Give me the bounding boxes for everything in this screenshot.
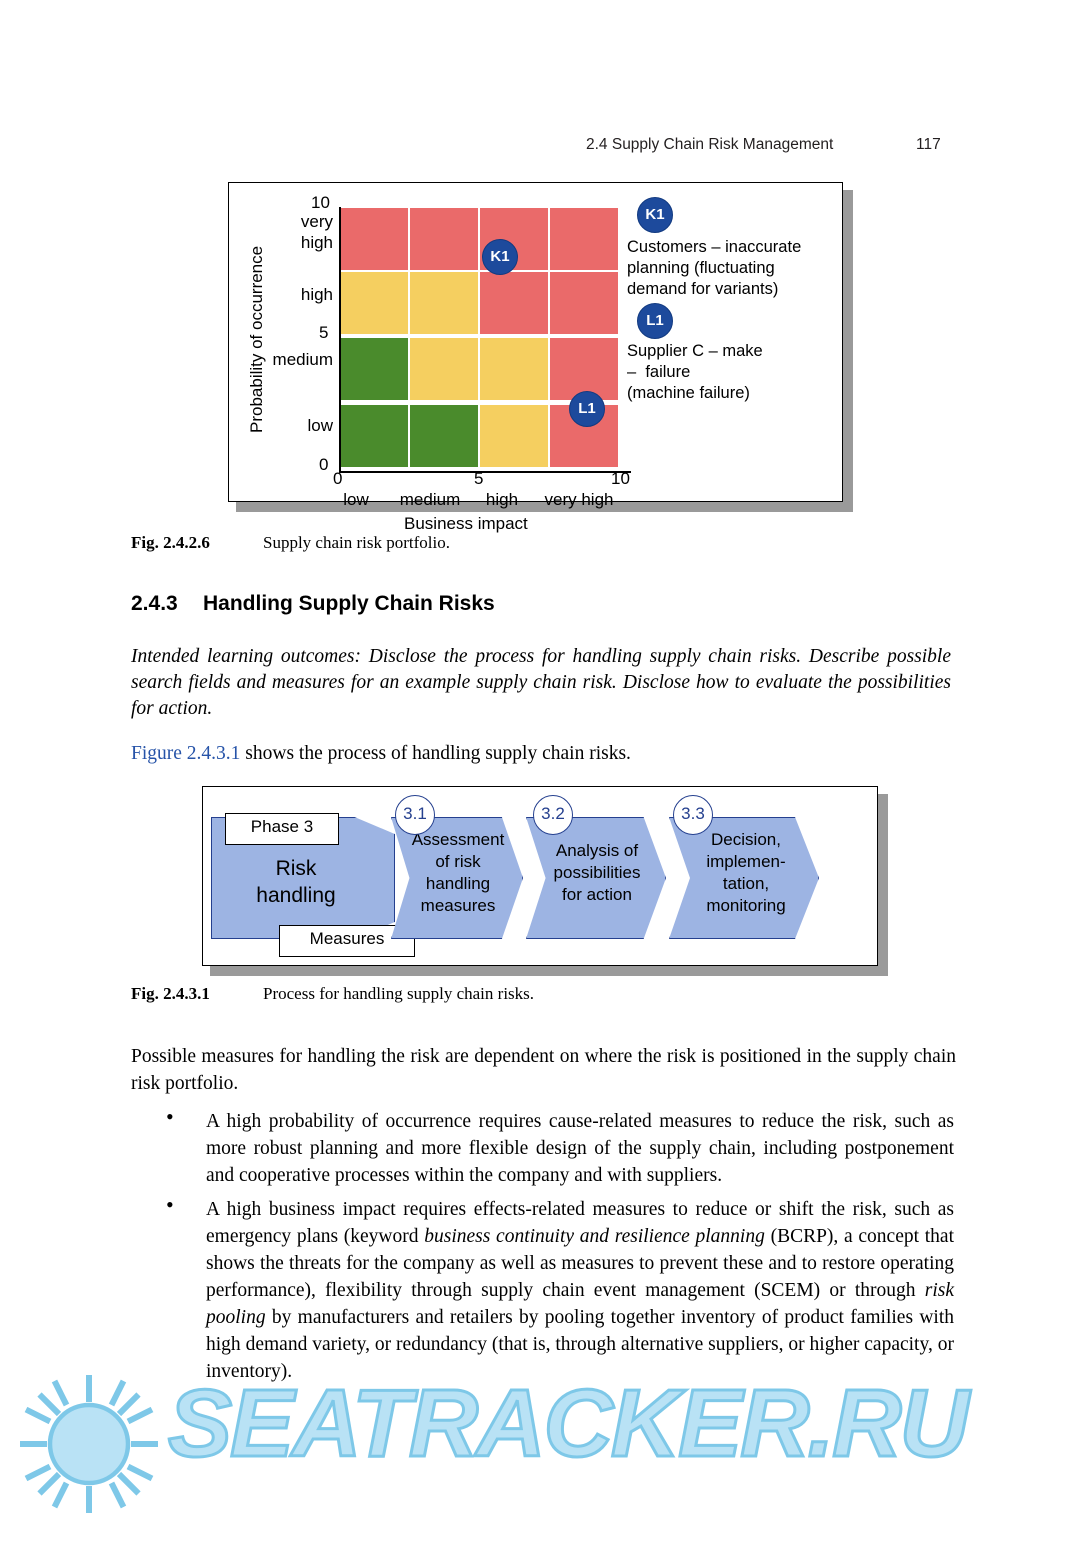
intended-learning-outcomes: Intended learning outcomes: Disclose the…: [131, 644, 951, 722]
legend-text-l1: Supplier C – make – failure (machine fai…: [627, 341, 763, 404]
matrix-cell: [479, 337, 549, 401]
process-step-2-label: Analysis ofpossibilitiesfor action: [536, 840, 658, 906]
phase-3-title: Riskhandling: [211, 855, 381, 909]
matrix-cell: [479, 271, 549, 335]
legend-bubble-l1: L1: [637, 303, 673, 339]
matrix-cell: [409, 271, 479, 335]
y-label-low: low: [261, 416, 333, 436]
figure-2-caption-text: Process for handling supply chain risks.: [263, 984, 534, 1004]
watermark-text: SEATRACKER.RU: [168, 1369, 967, 1479]
x-tick-5: 5: [474, 469, 483, 489]
bullet-marker: •: [166, 1192, 174, 1218]
running-head: 2.4 Supply Chain Risk Management 117: [586, 136, 833, 154]
document-page: 2.4 Supply Chain Risk Management 117 Pro…: [0, 0, 1080, 1541]
y-label-very-high: veryhigh: [261, 211, 333, 253]
running-head-section: 2.4 Supply Chain Risk Management: [586, 136, 833, 153]
x-tick-0: 0: [333, 469, 342, 489]
data-point-l1: L1: [569, 391, 605, 427]
bullet-item-1: A high probability of occurrence require…: [206, 1108, 954, 1189]
process-step-3-label: Decision,implemen-tation,monitoring: [679, 829, 813, 917]
legend-text-k1: Customers – inaccurate planning (fluctua…: [627, 237, 801, 300]
figure-process-handling: Riskhandling Phase 3 Measures Assessment…: [202, 786, 892, 976]
process-step-2-number: 3.2: [533, 795, 573, 835]
matrix-cell: [339, 404, 409, 468]
matrix-cell: [409, 404, 479, 468]
figure-frame: Riskhandling Phase 3 Measures Assessment…: [202, 786, 878, 966]
x-label-very-high: very high: [529, 490, 629, 510]
y-tick-10: 10: [311, 193, 330, 213]
matrix-cell: [339, 271, 409, 335]
legend-bubble-k1: K1: [637, 197, 673, 233]
figure-reference-link[interactable]: Figure 2.4.3.1: [131, 743, 240, 764]
x-axis-label: Business impact: [404, 514, 528, 534]
x-label-medium: medium: [390, 490, 470, 510]
matrix-cell: [409, 207, 479, 271]
section-heading-number: 2.4.3: [131, 592, 178, 616]
process-step-1-label: Assessmentof riskhandlingmeasures: [399, 829, 517, 917]
figure-risk-portfolio: Probability of occurrence 10 5 0 veryhig…: [228, 182, 853, 512]
process-step-3-number: 3.3: [673, 795, 713, 835]
watermark: SEATRACKER.RU: [0, 1355, 1080, 1541]
figure-reference-line: Figure 2.4.3.1 shows the process of hand…: [131, 740, 951, 767]
x-label-high: high: [472, 490, 532, 510]
process-step-1-number: 3.1: [395, 795, 435, 835]
y-label-medium: medium: [243, 350, 333, 370]
x-label-low: low: [321, 490, 391, 510]
matrix-cell: [549, 207, 619, 271]
phase-3-tag: Phase 3: [225, 813, 339, 845]
matrix-cell: [339, 207, 409, 271]
figure-reference-rest: shows the process of handling supply cha…: [240, 743, 631, 764]
matrix-cell: [339, 337, 409, 401]
matrix-cell: [479, 404, 549, 468]
figure-1-caption-text: Supply chain risk portfolio.: [263, 533, 450, 553]
y-tick-5: 5: [319, 323, 328, 343]
x-tick-10: 10: [611, 469, 630, 489]
page-number: 117: [916, 136, 941, 154]
sun-logo-icon: [14, 1369, 164, 1519]
y-label-high: high: [261, 285, 333, 305]
bullet-marker: •: [166, 1104, 174, 1130]
figure-1-caption-number: Fig. 2.4.2.6: [131, 533, 210, 553]
data-point-k1: K1: [482, 239, 518, 275]
body-paragraph: Possible measures for handling the risk …: [131, 1043, 956, 1097]
figure-frame: Probability of occurrence 10 5 0 veryhig…: [228, 182, 843, 502]
x-axis-line: [339, 471, 631, 473]
matrix-cell: [409, 337, 479, 401]
y-axis-line: [339, 207, 341, 473]
section-heading-text: Handling Supply Chain Risks: [203, 592, 495, 616]
matrix-cell: [549, 271, 619, 335]
y-tick-0: 0: [319, 455, 328, 475]
figure-2-caption-number: Fig. 2.4.3.1: [131, 984, 210, 1004]
